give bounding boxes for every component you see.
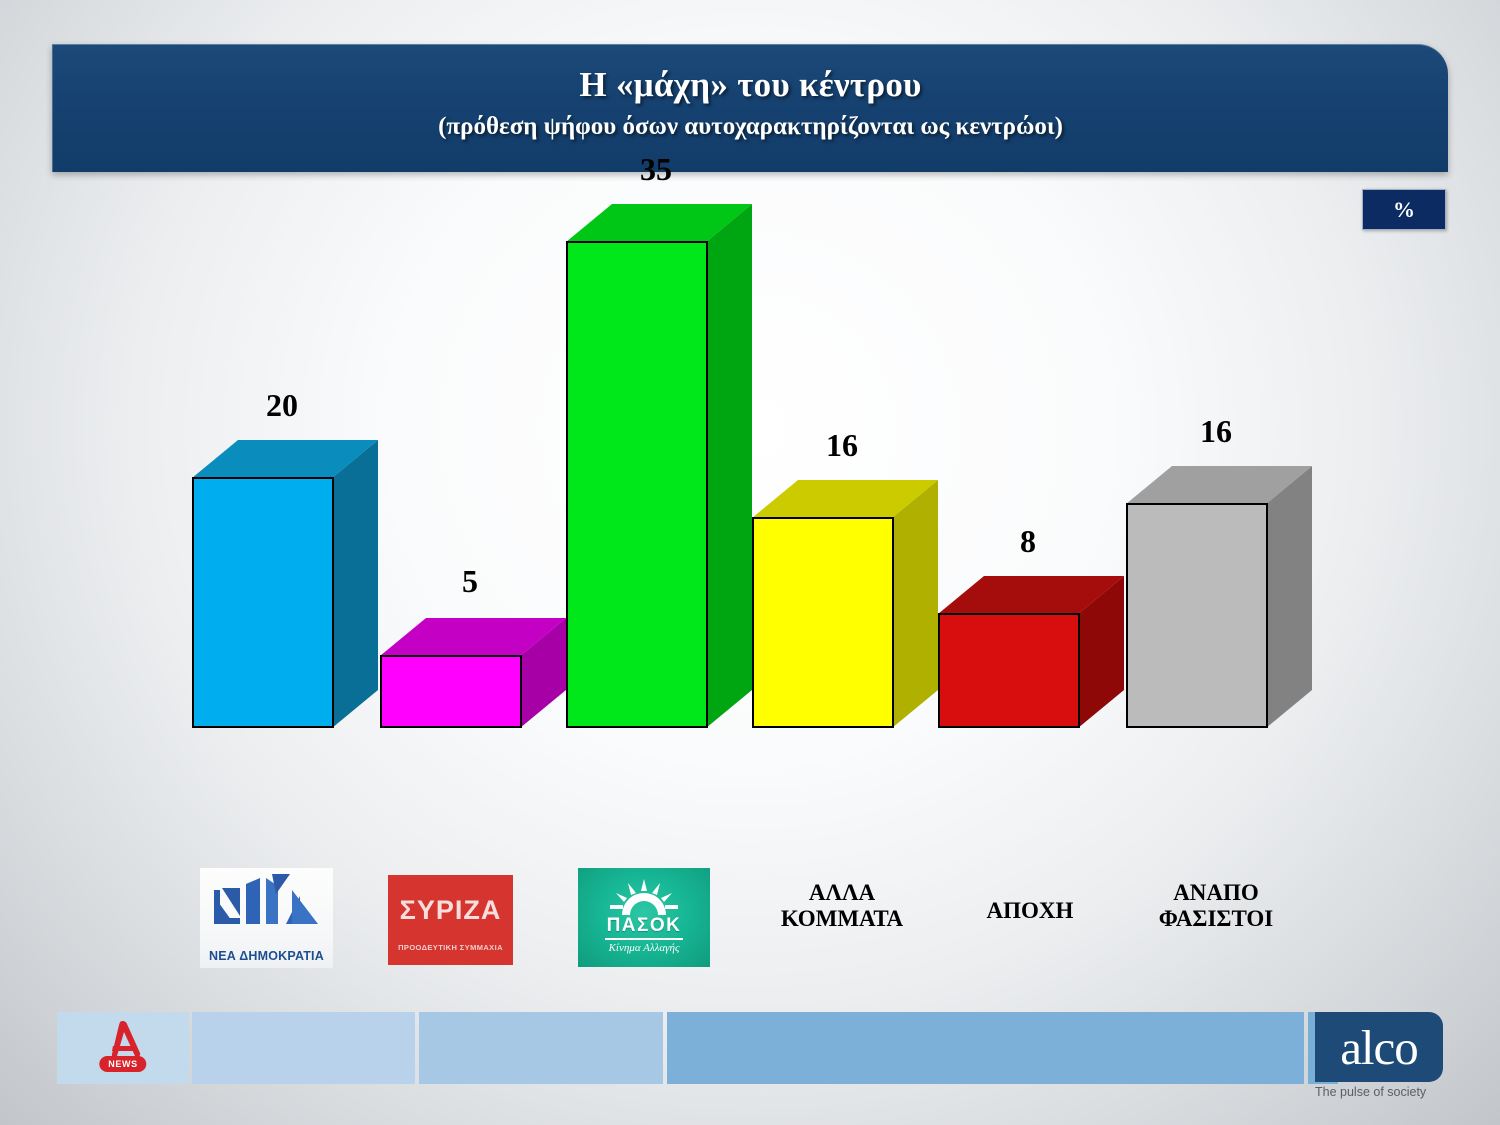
alco-logo-text: alco bbox=[1340, 1023, 1418, 1072]
alco-tagline: The pulse of society bbox=[1315, 1085, 1465, 1099]
bar-front-face bbox=[938, 613, 1080, 728]
x-label-other-parties: ΑΛΛΑ ΚΟΜΜΑΤΑ bbox=[742, 880, 942, 932]
bar-side-face bbox=[892, 480, 938, 728]
logo-syriza: ΣΥΡΙΖΑ ΠΡΟΟΔΕΥΤΙΚΗ ΣΥΜΜΑΧΙΑ bbox=[388, 875, 513, 965]
x-label-line1: ΑΝΑΠΟ bbox=[1116, 880, 1316, 906]
footer-segment-3 bbox=[419, 1012, 663, 1084]
nd-emblem-icon bbox=[200, 872, 333, 930]
syriza-logo-text: ΣΥΡΙΖΑ bbox=[388, 895, 513, 926]
bar-value-syriza: 5 bbox=[380, 563, 560, 600]
alpha-a-icon bbox=[99, 1020, 147, 1060]
bar-side-face bbox=[332, 440, 378, 728]
bar-value-abstention: 8 bbox=[938, 523, 1118, 560]
pasok-logo-subtext: Κίνημα Αλλαγής bbox=[578, 942, 710, 954]
x-label-line1: ΑΠΟΧΗ bbox=[930, 898, 1130, 924]
bar-front-face bbox=[380, 655, 522, 728]
bar-side-face bbox=[706, 204, 752, 728]
pasok-logo-rule bbox=[605, 938, 683, 940]
bar-value-antifascists: 16 bbox=[1126, 413, 1306, 450]
bar-syriza[interactable] bbox=[380, 618, 560, 728]
x-label-line2: ΦΑΣΙΣΤΟΙ bbox=[1116, 906, 1316, 932]
bar-value-nd: 20 bbox=[192, 387, 372, 424]
footer-segment-4 bbox=[667, 1012, 1304, 1084]
footer-segment-2 bbox=[192, 1012, 415, 1084]
x-label-line1: ΑΛΛΑ bbox=[742, 880, 942, 906]
nd-logo-text: ΝΕΑ ΔΗΜΟΚΡΑΤΙΑ bbox=[200, 949, 333, 963]
bar-nd[interactable] bbox=[192, 440, 372, 728]
bar-abstention[interactable] bbox=[938, 576, 1118, 728]
syriza-logo-subtext: ΠΡΟΟΔΕΥΤΙΚΗ ΣΥΜΜΑΧΙΑ bbox=[388, 943, 513, 952]
header-banner: Η «μάχη» του κέντρου (πρόθεση ψήφου όσων… bbox=[52, 44, 1448, 172]
page-title: Η «μάχη» του κέντρου bbox=[53, 65, 1448, 105]
bar-front-face bbox=[752, 517, 894, 728]
bar-front-face bbox=[566, 241, 708, 728]
bar-pasok[interactable] bbox=[566, 204, 746, 728]
unit-badge-percent: % bbox=[1362, 189, 1446, 230]
pasok-sun-icon bbox=[608, 879, 680, 915]
bar-antifascists[interactable] bbox=[1126, 466, 1306, 728]
x-label-antifascists: ΑΝΑΠΟ ΦΑΣΙΣΤΟΙ bbox=[1116, 880, 1316, 932]
bar-other-parties[interactable] bbox=[752, 480, 932, 728]
bar-value-other-parties: 16 bbox=[752, 427, 932, 464]
page-subtitle: (πρόθεση ψήφου όσων αυτοχαρακτηρίζονται … bbox=[53, 113, 1448, 141]
alpha-news-badge: NEWS bbox=[99, 1056, 146, 1072]
footer-alpha-news-logo: NEWS bbox=[57, 1012, 189, 1084]
x-label-line2: ΚΟΜΜΑΤΑ bbox=[742, 906, 942, 932]
x-label-abstention: ΑΠΟΧΗ bbox=[930, 898, 1130, 924]
bar-front-face bbox=[192, 477, 334, 728]
pasok-logo-text: ΠΑΣΟΚ bbox=[578, 915, 710, 937]
bar-front-face bbox=[1126, 503, 1268, 728]
alco-logo: alco bbox=[1315, 1012, 1443, 1082]
bar-side-face bbox=[1266, 466, 1312, 728]
bar-value-pasok: 35 bbox=[566, 151, 746, 188]
footer-bar: NEWS bbox=[0, 1012, 1500, 1092]
logo-nea-dimokratia: ΝΕΑ ΔΗΜΟΚΡΑΤΙΑ bbox=[200, 868, 333, 968]
logo-pasok: ΠΑΣΟΚ Κίνημα Αλλαγής bbox=[578, 868, 710, 967]
